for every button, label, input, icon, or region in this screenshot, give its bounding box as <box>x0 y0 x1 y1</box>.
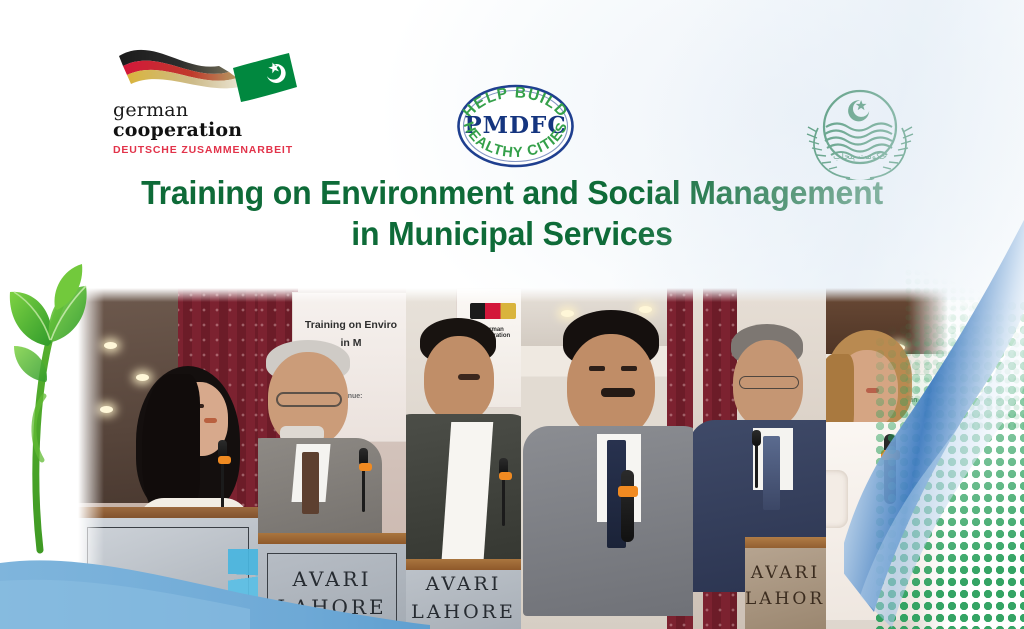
podium-avari-text: AVARI <box>745 563 826 583</box>
government-of-punjab-emblem: حکومت پنجاب <box>790 80 930 180</box>
banner-title-line1: Training on Environment and Social Manag… <box>141 174 883 211</box>
backdrop-banner-line1: Training on Enviro <box>293 319 406 331</box>
green-halftone-dots <box>874 300 1024 629</box>
pmdfc-seal-icon: HELP BUILD PMDFC HEALTHY CITIES <box>448 80 583 172</box>
podium-lahore-text: LAHORE <box>406 601 521 623</box>
logo-row: german cooperation DEUTSCHE ZUSAMMENARBE… <box>0 36 1024 156</box>
banner-title: Training on Environment and Social Manag… <box>15 172 1008 254</box>
pmdfc-logo: HELP BUILD PMDFC HEALTHY CITIES <box>448 80 583 172</box>
german-pakistan-flag-swoosh <box>111 42 301 104</box>
photo-panel-1: AVARI <box>78 288 258 629</box>
podium-avari-text: AVARI <box>258 567 406 591</box>
podium-avari-text: AVARI <box>406 573 521 595</box>
german-cooperation-logo: german cooperation DEUTSCHE ZUSAMMENARBE… <box>103 42 303 164</box>
photo-panel-2: Training on Enviro in M Venue: AVARI <box>258 288 406 629</box>
german-cooperation-line2: cooperation <box>113 120 303 141</box>
svg-text:حکومت پنجاب: حکومت پنجاب <box>833 152 887 162</box>
event-photo-collage: AVARI Training on Enviro in M Venue: <box>78 288 948 629</box>
german-cooperation-line3: DEUTSCHE ZUSAMMENARBEIT <box>113 144 303 156</box>
banner-title-line2: in Municipal Services <box>15 213 1008 254</box>
photo-panel-5: AVARI LAHORE <box>693 288 826 629</box>
podium-lahore-text: LAHORE <box>745 589 826 609</box>
podium-lahore-text: LAHORE <box>258 595 406 619</box>
german-cooperation-line1: german <box>113 100 303 120</box>
photo-panel-4 <box>521 288 693 629</box>
podium-avari-text: AVARI <box>78 583 258 605</box>
event-banner: german cooperation DEUTSCHE ZUSAMMENARBE… <box>0 0 1024 629</box>
photo-panel-3: german cooperation AVARI LAHORE <box>406 288 521 629</box>
punjab-emblem-icon: حکومت پنجاب <box>790 80 930 180</box>
